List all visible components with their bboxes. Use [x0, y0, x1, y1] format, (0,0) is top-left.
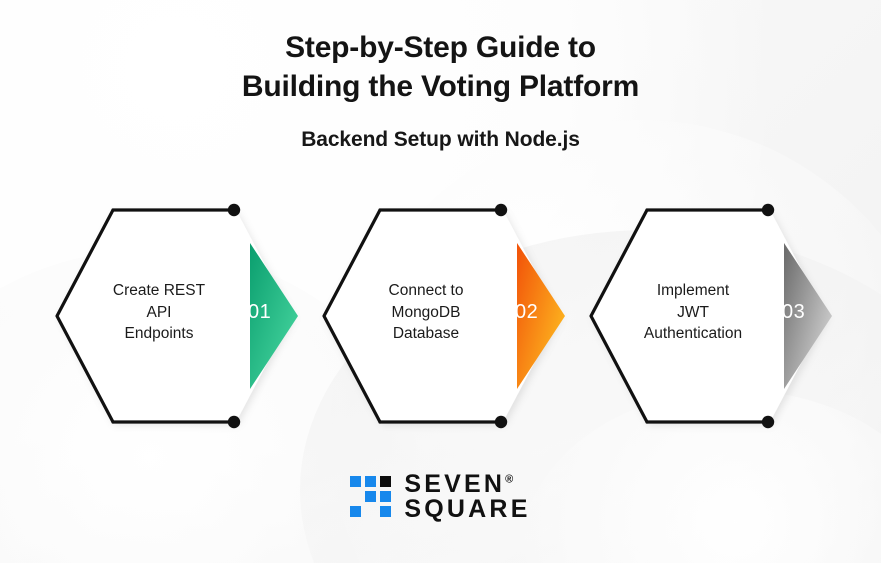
step-3-top-node-dot	[762, 204, 774, 216]
step-3-label: Implement JWT Authentication	[618, 280, 768, 345]
logo-cell-r2c3	[380, 491, 391, 502]
page-title-line-2: Building the Voting Platform	[0, 67, 881, 106]
logo-name-top: SEVEN	[404, 470, 505, 498]
page-subtitle: Backend Setup with Node.js	[0, 128, 881, 152]
step-3-number: 03	[782, 301, 822, 324]
step-1-top-node-dot	[228, 204, 240, 216]
logo-cell-r3c2	[365, 506, 376, 517]
brand-logo: SEVEN® SQUARE	[0, 472, 881, 521]
step-item-1[interactable]: Create REST API Endpoints 01	[40, 196, 304, 436]
logo-cell-r2c1	[350, 491, 361, 502]
logo-cell-r3c1	[350, 506, 361, 517]
step-1-number: 01	[248, 301, 288, 324]
step-3-bottom-node-dot	[762, 416, 774, 428]
step-1-label: Create REST API Endpoints	[84, 280, 234, 345]
step-2-label: Connect to MongoDB Database	[351, 280, 501, 345]
steps-row: Create REST API Endpoints 01	[0, 196, 881, 436]
logo-cell-r1c2	[365, 476, 376, 487]
step-1-bottom-node-dot	[228, 416, 240, 428]
logo-cell-r3c3	[380, 506, 391, 517]
logo-cell-r2c2	[365, 491, 376, 502]
infographic-canvas: Step-by-Step Guide to Building the Votin…	[0, 0, 881, 563]
logo-cell-r1c1	[350, 476, 361, 487]
header: Step-by-Step Guide to Building the Votin…	[0, 28, 881, 152]
logo-cell-r1c3	[380, 476, 391, 487]
page-title: Step-by-Step Guide to Building the Votin…	[0, 28, 881, 106]
logo-wordmark: SEVEN® SQUARE	[404, 472, 530, 521]
step-item-2[interactable]: Connect to MongoDB Database 02	[307, 196, 571, 436]
step-2-number: 02	[515, 301, 555, 324]
logo-grid-icon	[350, 476, 391, 517]
step-2-bottom-node-dot	[495, 416, 507, 428]
step-item-3[interactable]: Implement JWT Authentication 03	[574, 196, 838, 436]
step-2-top-node-dot	[495, 204, 507, 216]
logo-name-top-row: SEVEN®	[404, 472, 530, 497]
logo-name-bottom: SQUARE	[404, 497, 530, 522]
registered-trademark-icon: ®	[505, 474, 513, 486]
page-title-line-1: Step-by-Step Guide to	[0, 28, 881, 67]
